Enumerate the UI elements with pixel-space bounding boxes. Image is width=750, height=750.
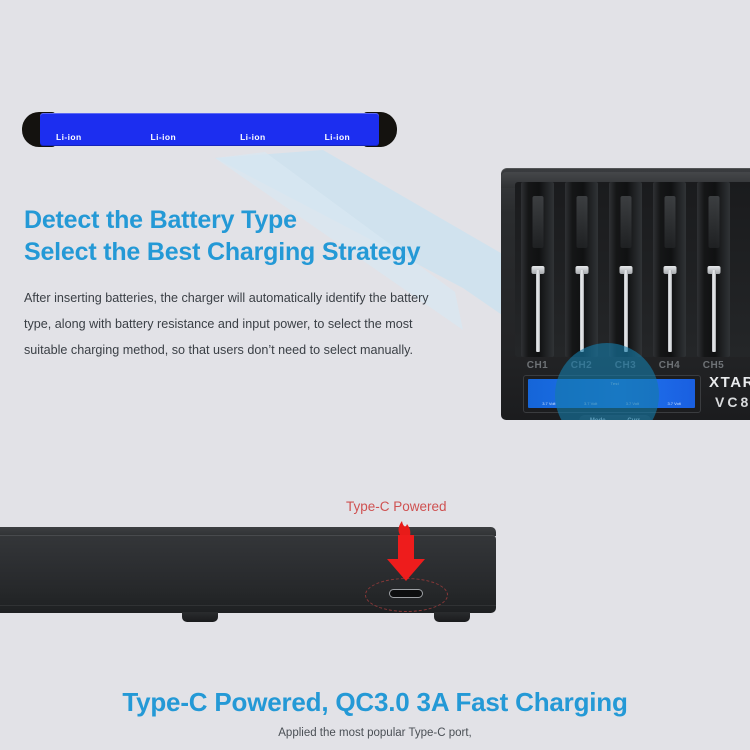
detect-heading-line2: Select the Best Charging Strategy — [24, 237, 420, 269]
charger-foot — [434, 612, 470, 622]
detect-heading-line1: Detect the Battery Type — [24, 205, 420, 237]
battery-slot — [653, 182, 686, 357]
channel-label-ch4: CH4 — [653, 360, 686, 371]
lcd-readout: 3.7 Volt — [542, 401, 555, 406]
battery-slot — [565, 182, 598, 357]
slot-contact — [664, 196, 675, 248]
battery-slot — [521, 182, 554, 357]
charger-model-label: VC8 — [715, 394, 750, 410]
usb-c-port — [389, 589, 423, 598]
slot-contact — [708, 196, 719, 248]
down-arrow-flame-icon — [378, 521, 434, 583]
slot-contact — [532, 196, 543, 248]
slot-rail — [536, 270, 540, 352]
channel-label-ch1: CH1 — [521, 360, 554, 371]
charger-battery-bay — [515, 182, 750, 357]
slot-rail — [624, 270, 628, 352]
li-ion-battery-strip: Li-ion Li-ion Li-ion Li-ion — [22, 112, 397, 147]
slot-rail — [712, 270, 716, 352]
detect-heading: Detect the Battery Type Select the Best … — [24, 205, 420, 268]
slot-contact — [576, 196, 587, 248]
battery-label: Li-ion — [151, 132, 177, 147]
typec-subtext: Applied the most popular Type-C port, — [0, 727, 750, 739]
lcd-readout: 3.7 Volt — [667, 401, 680, 406]
battery-label: Li-ion — [56, 132, 82, 147]
type-c-powered-callout: Type-C Powered — [346, 499, 447, 514]
battery-label: Li-ion — [240, 132, 266, 147]
paragraph-line: type, along with battery resistance and … — [24, 312, 494, 338]
paragraph-line: After inserting batteries, the charger w… — [24, 286, 494, 312]
paragraph-line: suitable charging method, so that users … — [24, 338, 494, 364]
slot-rail — [580, 270, 584, 352]
slot-rail — [668, 270, 672, 352]
battery-label: Li-ion — [325, 132, 351, 147]
xtar-brand-logo: XTAR® — [709, 374, 750, 391]
charger-product-photo: CH1 CH2 CH3 CH4 CH5 Test 3.7 Volt 3.7 Vo… — [493, 168, 750, 420]
slot-contact — [620, 196, 631, 248]
product-feature-page: Li-ion Li-ion Li-ion Li-ion Detect the B… — [0, 0, 750, 750]
typec-heading: Type-C Powered, QC3.0 3A Fast Charging — [0, 687, 750, 718]
detect-paragraph: After inserting batteries, the charger w… — [24, 286, 494, 363]
charger-foot — [182, 612, 218, 622]
brand-text: XTAR — [709, 374, 750, 391]
battery-label-group: Li-ion Li-ion Li-ion Li-ion — [40, 112, 379, 147]
battery-slot — [609, 182, 642, 357]
channel-label-ch5: CH5 — [697, 360, 730, 371]
battery-slot — [697, 182, 730, 357]
